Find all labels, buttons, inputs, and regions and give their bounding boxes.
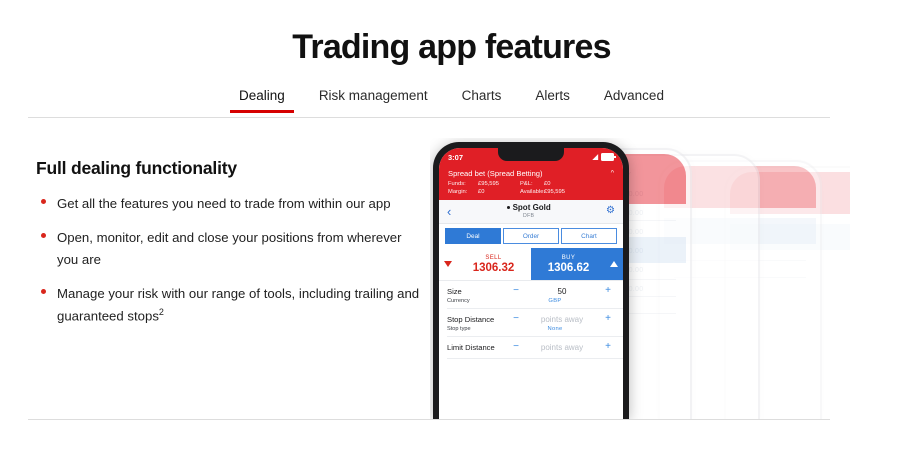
buy-button[interactable]: BUY 1306.62 xyxy=(531,248,623,280)
price-row: SELL 1306.32 BUY 1306.62 xyxy=(439,248,623,281)
tab-risk-management-label: Risk management xyxy=(319,88,428,103)
tab-advanced-label: Advanced xyxy=(604,88,664,103)
price-down-triangle-icon xyxy=(444,261,452,267)
limit-distance-input[interactable]: points away xyxy=(523,343,601,352)
price-up-triangle-icon xyxy=(610,261,618,267)
account-title-row[interactable]: Spread bet (Spread Betting) ^ xyxy=(448,169,614,178)
tab-dealing[interactable]: Dealing xyxy=(222,88,302,113)
bullet-dot-icon xyxy=(41,233,46,238)
instrument-name-label: Spot Gold xyxy=(513,203,551,212)
account-summary-grid: Funds: £95,595 P&L: £0 Margin: £0 Availa… xyxy=(448,181,614,195)
stop-distance-label: Stop Distance xyxy=(447,315,509,324)
sell-label: SELL xyxy=(456,255,531,261)
row-divider xyxy=(447,358,623,359)
sell-price-block: SELL 1306.32 xyxy=(456,255,531,274)
size-value[interactable]: 50 xyxy=(523,287,601,296)
limit-distance-label: Limit Distance xyxy=(447,343,509,352)
phone-screen: 3:07 ◢ Spread bet (Spread Betting) ^ Fun… xyxy=(439,148,623,419)
tab-alerts-label: Alerts xyxy=(535,88,570,103)
chevron-up-icon[interactable]: ^ xyxy=(611,170,614,177)
size-decrement-button[interactable]: − xyxy=(509,286,523,296)
funds-value: £95,595 xyxy=(478,181,520,187)
segmented-control: Deal Order Chart xyxy=(439,224,623,248)
available-label: Available: xyxy=(520,189,544,195)
instrument-bar: ‹ Spot Gold DFB ⚙ xyxy=(439,200,623,224)
list-item-text: Get all the features you need to trade f… xyxy=(57,193,391,214)
stop-type-label: Stop type xyxy=(447,326,509,332)
size-label: Size xyxy=(447,287,509,296)
list-item: Manage your risk with our range of tools… xyxy=(36,283,426,326)
list-item-text: Manage your risk with our range of tools… xyxy=(57,283,426,326)
tab-charts-label: Charts xyxy=(462,88,502,103)
segment-chart[interactable]: Chart xyxy=(561,228,617,244)
status-time: 3:07 xyxy=(448,153,463,162)
stop-distance-increment-button[interactable]: + xyxy=(601,314,615,324)
footnote-marker: 2 xyxy=(159,307,164,317)
field-row-stop-distance: Stop Distance − points away + xyxy=(439,309,623,326)
list-item-label: Manage your risk with our range of tools… xyxy=(57,286,419,323)
field-row-limit-distance: Limit Distance − points away + xyxy=(439,337,623,354)
instrument-status-dot-icon xyxy=(507,206,510,209)
tab-advanced[interactable]: Advanced xyxy=(587,88,681,113)
phone-mockup-stack: BUY 1520.00 1510.00 1500.00 1490.00 1480… xyxy=(430,138,850,419)
sub-row-currency: Currency GBP xyxy=(439,298,623,308)
tab-dealing-label: Dealing xyxy=(239,88,285,103)
footer-divider xyxy=(28,419,830,420)
stop-type-value[interactable]: None xyxy=(509,326,601,332)
account-header: Spread bet (Spread Betting) ^ Funds: £95… xyxy=(439,166,623,200)
list-item: Open, monitor, edit and close your posit… xyxy=(36,227,426,270)
size-increment-button[interactable]: + xyxy=(601,286,615,296)
currency-label: Currency xyxy=(447,298,509,304)
funds-label: Funds: xyxy=(448,181,478,187)
pnl-label: P&L: xyxy=(520,181,544,187)
field-row-size: Size − 50 + xyxy=(439,281,623,298)
buy-value: 1306.62 xyxy=(531,262,606,274)
header-divider xyxy=(28,117,830,118)
wifi-icon: ◢ xyxy=(593,153,598,161)
stop-distance-decrement-button[interactable]: − xyxy=(509,314,523,324)
gear-icon[interactable]: ⚙ xyxy=(606,206,615,216)
currency-value[interactable]: GBP xyxy=(509,298,601,304)
battery-icon xyxy=(601,153,614,161)
list-item-label: Open, monitor, edit and close your posit… xyxy=(57,230,402,266)
main-phone-mockup: 3:07 ◢ Spread bet (Spread Betting) ^ Fun… xyxy=(433,142,629,419)
instrument-name-row: Spot Gold xyxy=(451,203,606,212)
tab-bar: Dealing Risk management Charts Alerts Ad… xyxy=(0,88,903,113)
stop-distance-input[interactable]: points away xyxy=(523,315,601,324)
instrument-info: Spot Gold DFB xyxy=(451,203,606,219)
bullet-dot-icon xyxy=(41,289,46,294)
sub-row-stop-type: Stop type None xyxy=(439,326,623,336)
pnl-value: £0 xyxy=(544,181,614,187)
limit-distance-decrement-button[interactable]: − xyxy=(509,342,523,352)
account-title: Spread bet (Spread Betting) xyxy=(448,169,543,178)
section-heading: Full dealing functionality xyxy=(36,158,426,179)
list-item-text: Open, monitor, edit and close your posit… xyxy=(57,227,426,270)
available-value: £95,595 xyxy=(544,189,614,195)
buy-label: BUY xyxy=(531,255,606,261)
sell-value: 1306.32 xyxy=(456,262,531,274)
margin-value: £0 xyxy=(478,189,520,195)
feature-copy-column: Full dealing functionality Get all the f… xyxy=(36,158,426,339)
tab-alerts[interactable]: Alerts xyxy=(518,88,587,113)
tab-risk-management[interactable]: Risk management xyxy=(302,88,445,113)
instrument-subtitle: DFB xyxy=(451,213,606,219)
status-bar: 3:07 ◢ xyxy=(439,148,623,166)
tab-charts[interactable]: Charts xyxy=(445,88,519,113)
limit-distance-increment-button[interactable]: + xyxy=(601,342,615,352)
segment-deal[interactable]: Deal xyxy=(445,228,501,244)
segment-order[interactable]: Order xyxy=(503,228,559,244)
margin-label: Margin: xyxy=(448,189,478,195)
bullet-dot-icon xyxy=(41,199,46,204)
page-title: Trading app features xyxy=(0,28,903,67)
sell-button[interactable]: SELL 1306.32 xyxy=(439,248,531,280)
list-item-label: Get all the features you need to trade f… xyxy=(57,196,391,211)
notch xyxy=(498,148,564,161)
tab-active-underline xyxy=(230,110,294,113)
buy-price-block: BUY 1306.62 xyxy=(531,255,606,274)
list-item: Get all the features you need to trade f… xyxy=(36,193,426,214)
status-icons: ◢ xyxy=(593,153,614,161)
